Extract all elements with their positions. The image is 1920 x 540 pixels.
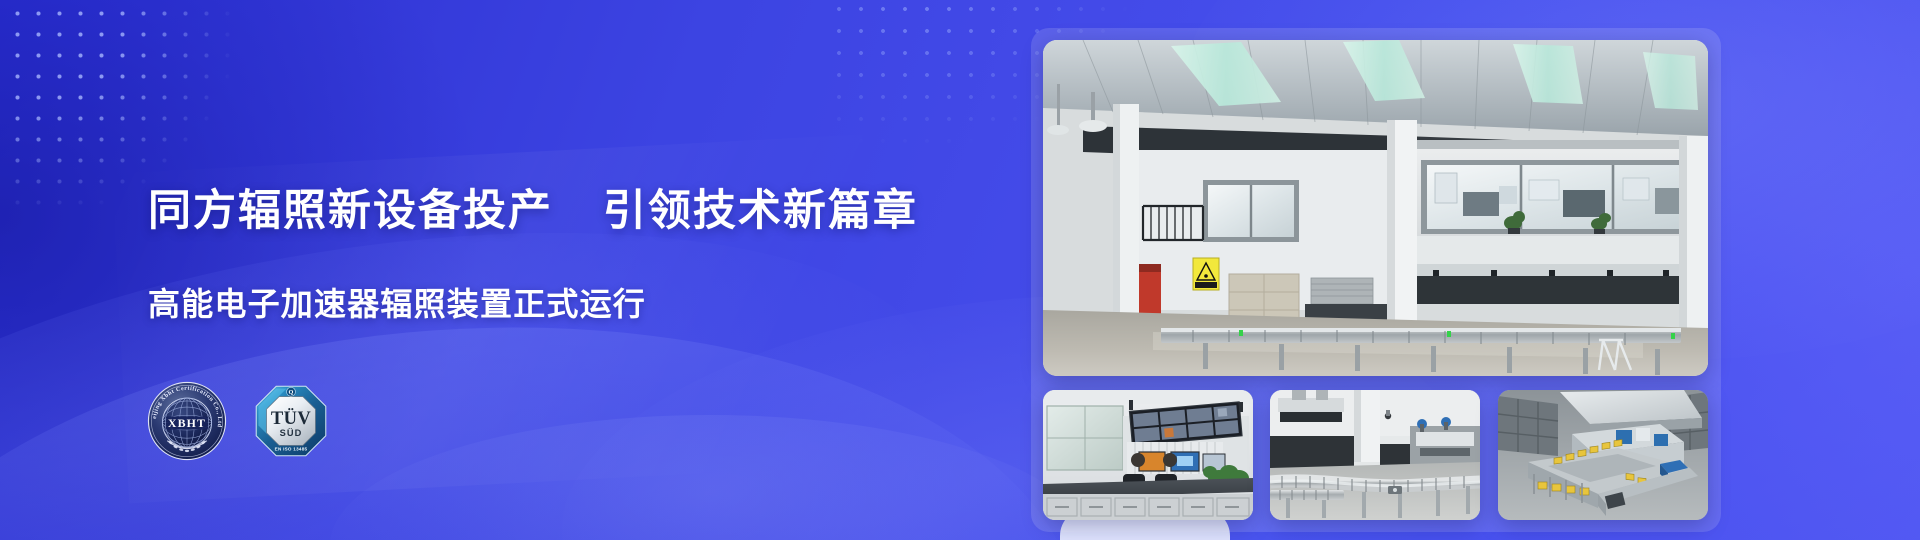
promo-banner: 同方辐照新设备投产 引领技术新篇章 高能电子加速器辐照装置正式运行 (0, 0, 1920, 540)
xbht-abbr-text: XBHT (168, 416, 206, 430)
tuv-q-mark: Q (289, 389, 294, 396)
banner-headline: 同方辐照新设备投产 引领技术新篇章 (148, 186, 968, 237)
decorative-swoosh-bottom (330, 415, 1090, 540)
xbht-certification-badge: Beijing Xbht Certification Co., Ltd (146, 380, 228, 462)
facility-3d-render (1498, 390, 1708, 520)
banner-text-block: 同方辐照新设备投产 引领技术新篇章 高能电子加速器辐照装置正式运行 (148, 186, 968, 323)
tuv-text: TÜV (271, 408, 311, 429)
certification-badge-row: Beijing Xbht Certification Co., Ltd (146, 380, 328, 462)
headline-part-1: 同方辐照新设备投产 (148, 187, 553, 235)
sud-text: SÜD (280, 428, 303, 438)
control-room-photo (1043, 390, 1253, 520)
banner-subheadline: 高能电子加速器辐照装置正式运行 (148, 285, 968, 323)
tuv-standard-text: EN ISO 13485 (275, 447, 308, 452)
headline-part-2: 引领技术新篇章 (603, 187, 918, 235)
irradiation-facility-hall-photo (1043, 40, 1708, 376)
conveyor-line-photo (1270, 390, 1480, 520)
tuv-sud-badge: TÜV SÜD EN ISO 13485 Q (254, 384, 328, 458)
photo-collage (1043, 40, 1708, 520)
